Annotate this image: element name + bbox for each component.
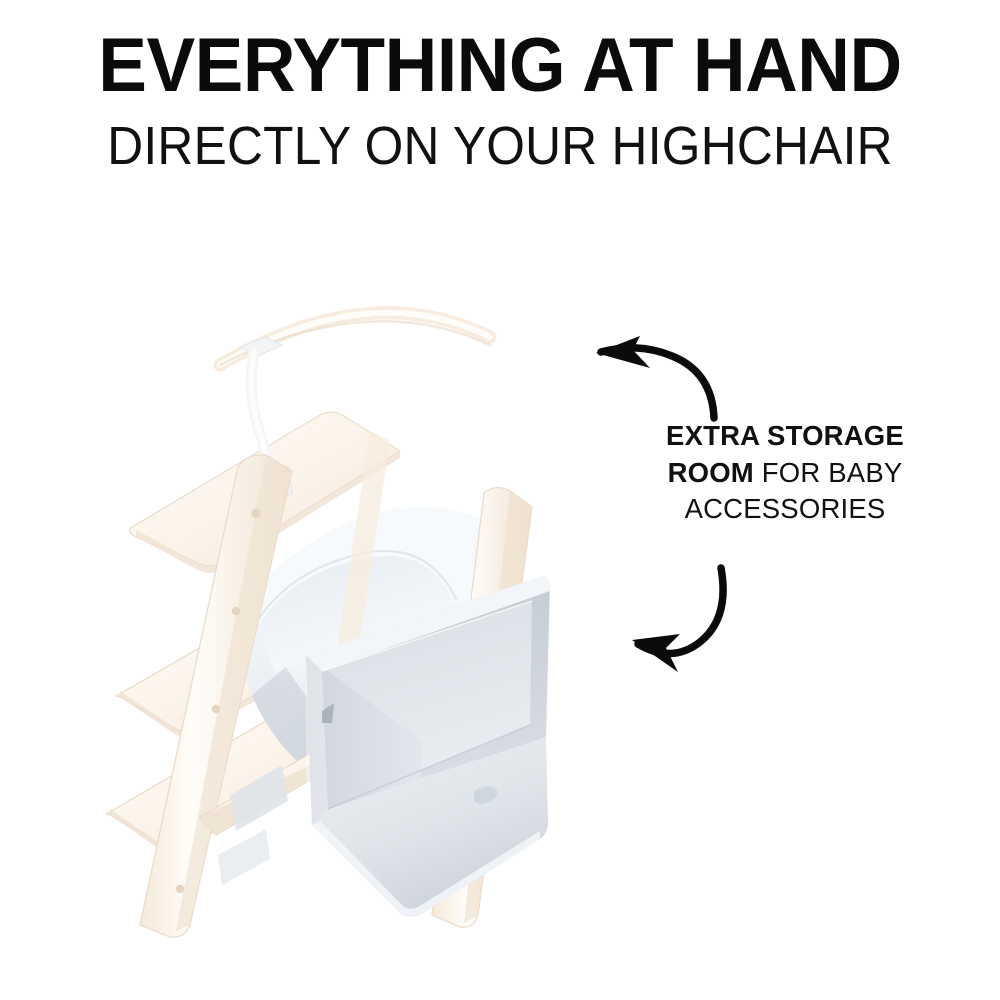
callout-line-3: ACCESSORIES bbox=[620, 491, 950, 528]
callout-line-2-regular: FOR BABY bbox=[754, 457, 903, 488]
callout-text-block: EXTRA STORAGE ROOM FOR BABY ACCESSORIES bbox=[620, 418, 950, 528]
arrow-to-storage-bin-icon bbox=[632, 568, 723, 672]
page-title: EVERYTHING AT HAND bbox=[20, 30, 980, 103]
callout-line-1: EXTRA STORAGE bbox=[620, 418, 950, 455]
callout-line-1-bold: EXTRA STORAGE bbox=[666, 420, 904, 451]
callout-line-2-bold: ROOM bbox=[668, 457, 754, 488]
header-text-block: EVERYTHING AT HAND DIRECTLY ON YOUR HIGH… bbox=[0, 30, 1000, 173]
page-subtitle: DIRECTLY ON YOUR HIGHCHAIR bbox=[40, 119, 960, 173]
callout-line-2: ROOM FOR BABY bbox=[620, 455, 950, 492]
callout-line-3-regular: ACCESSORIES bbox=[685, 493, 886, 524]
promo-image-canvas: EVERYTHING AT HAND DIRECTLY ON YOUR HIGH… bbox=[0, 0, 1000, 1000]
product-illustration bbox=[70, 225, 630, 945]
